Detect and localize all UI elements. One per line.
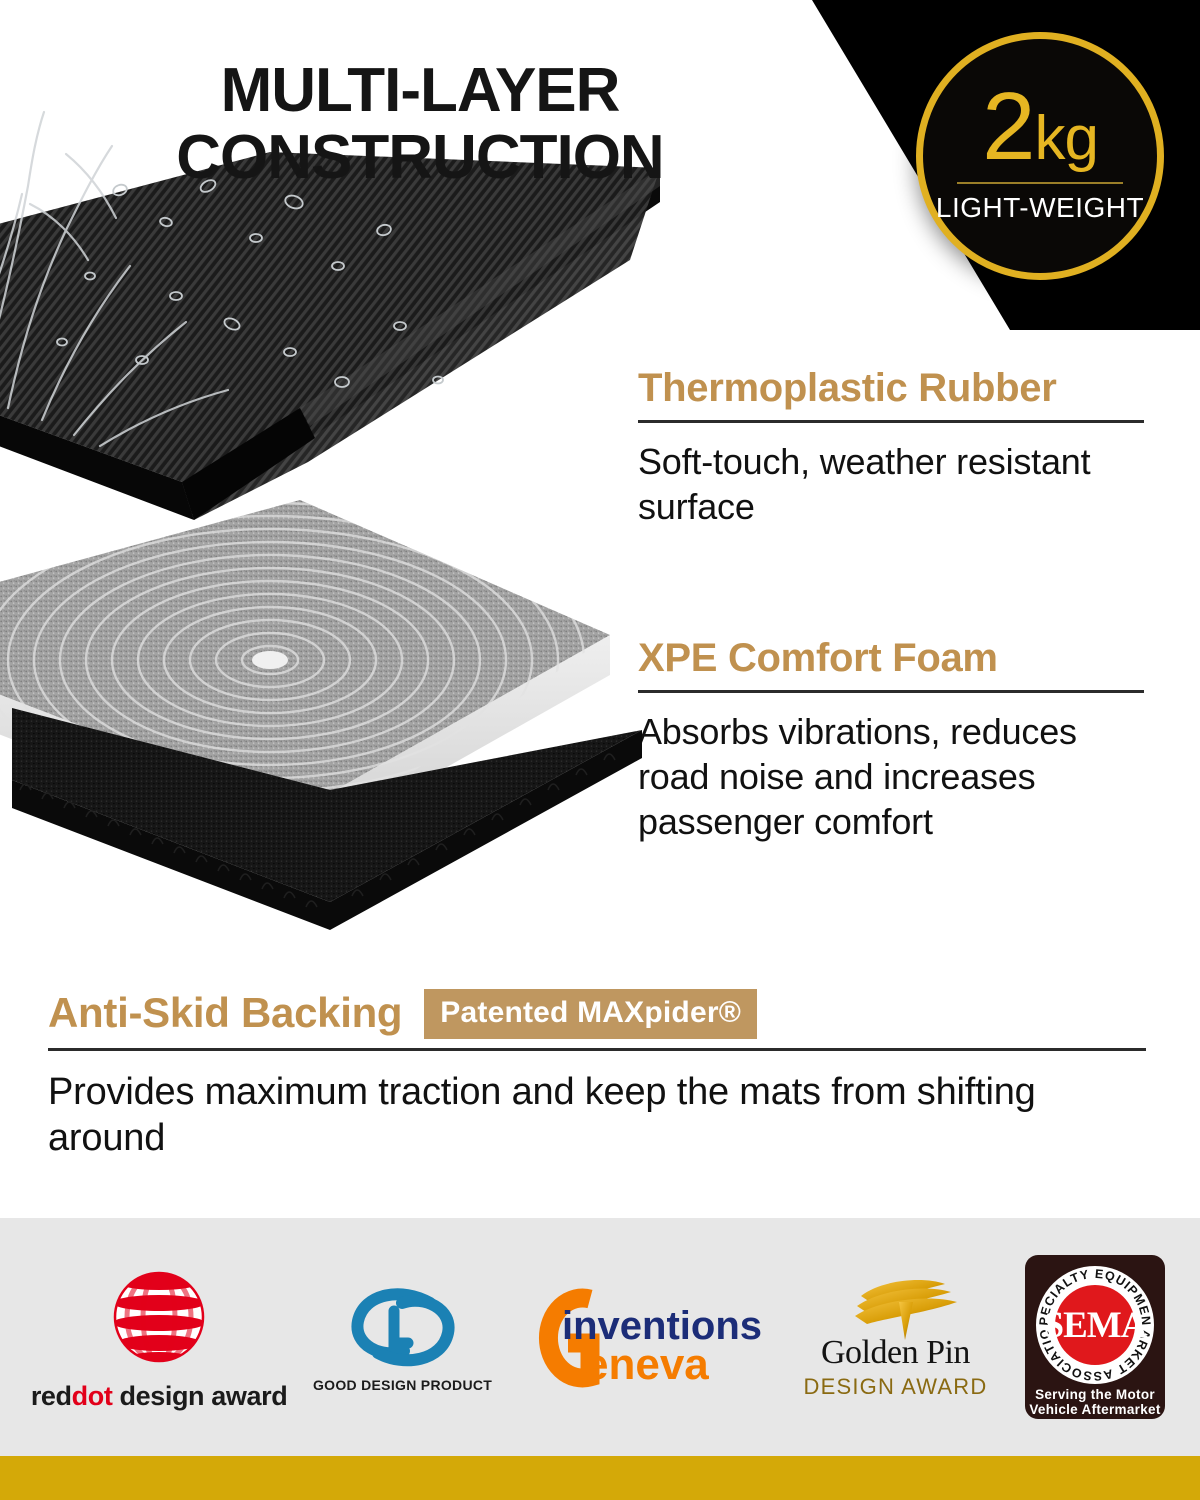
feature-thermoplastic-rubber: Thermoplastic Rubber Soft-touch, weather… (638, 366, 1144, 529)
feature-anti-skid-backing: Anti-Skid Backing Patented MAXpider® Pro… (48, 988, 1146, 1162)
geneva-word: eneva (584, 1340, 709, 1389)
weight-divider (957, 182, 1123, 184)
sema-caption-line-2: Vehicle Aftermarket (1030, 1402, 1161, 1417)
inventions-geneva-wordmark-icon: inventions eneva (518, 1285, 770, 1389)
page-title: MULTI-LAYER CONSTRUCTION (0, 58, 840, 192)
feature-3-divider (48, 1048, 1146, 1051)
good-design-gd-monogram-icon (338, 1281, 468, 1373)
bottom-gold-bar (0, 1456, 1200, 1500)
reddot-sphere-icon (103, 1263, 215, 1375)
sema-caption-line-1: Serving the Motor (1035, 1387, 1155, 1402)
golden-pin-title: Golden Pin (821, 1334, 970, 1372)
weight-unit: kg (1034, 110, 1097, 168)
reddot-word-rest: design award (112, 1381, 287, 1411)
award-logo-sema: SPECIALTY EQUIPMENT MARKET ASSOCIATION S… (1021, 1251, 1169, 1423)
award-logo-reddot: reddot design award (31, 1263, 287, 1412)
feature-2-body: Absorbs vibrations, reduces road noise a… (638, 709, 1144, 844)
feature-3-heading-row: Anti-Skid Backing Patented MAXpider® (48, 988, 1146, 1038)
layer-thermoplastic-rubber (0, 152, 660, 520)
foam-center-dot (252, 651, 288, 669)
infographic-root: 2 kg LIGHT-WEIGHT MULTI-LAYER CONSTRUCTI… (0, 0, 1200, 1500)
reddot-wordmark: reddot design award (31, 1381, 287, 1412)
feature-3-body: Provides maximum traction and keep the m… (48, 1069, 1146, 1162)
weight-label: LIGHT-WEIGHT (936, 192, 1144, 224)
patented-maxpider-badge: Patented MAXpider® (424, 989, 757, 1039)
sema-center-text: SEMA (1044, 1305, 1148, 1346)
title-line-1: MULTI-LAYER (0, 58, 840, 125)
weight-badge: 2 kg LIGHT-WEIGHT (916, 32, 1164, 280)
feature-xpe-comfort-foam: XPE Comfort Foam Absorbs vibrations, red… (638, 636, 1144, 844)
award-logo-inventions-geneva: inventions eneva (518, 1285, 770, 1389)
product-layers-illustration (0, 90, 670, 970)
award-logo-golden-pin: Golden Pin DESIGN AWARD (795, 1274, 995, 1400)
reddot-word-dot: dot (72, 1381, 113, 1411)
golden-pin-subtitle: DESIGN AWARD (804, 1374, 988, 1400)
feature-3-heading: Anti-Skid Backing (48, 990, 402, 1036)
weight-value-row: 2 kg (982, 82, 1098, 171)
feature-2-heading: XPE Comfort Foam (638, 636, 1144, 680)
reddot-word-red: red (31, 1381, 72, 1411)
weight-value: 2 (982, 82, 1034, 171)
sema-badge-icon: SPECIALTY EQUIPMENT MARKET ASSOCIATION S… (1021, 1251, 1169, 1423)
good-design-caption: GOOD DESIGN PRODUCT (313, 1377, 492, 1393)
title-line-2: CONSTRUCTION (0, 125, 840, 192)
awards-footer: reddot design award GOOD DESIGN PRODUCT … (0, 1218, 1200, 1456)
award-logo-good-design-product: GOOD DESIGN PRODUCT (313, 1281, 492, 1393)
feature-2-divider (638, 690, 1144, 693)
feature-1-heading: Thermoplastic Rubber (638, 366, 1144, 410)
feature-1-divider (638, 420, 1144, 423)
feature-1-body: Soft-touch, weather resistant surface (638, 439, 1144, 529)
golden-pin-swirl-icon (795, 1274, 995, 1340)
